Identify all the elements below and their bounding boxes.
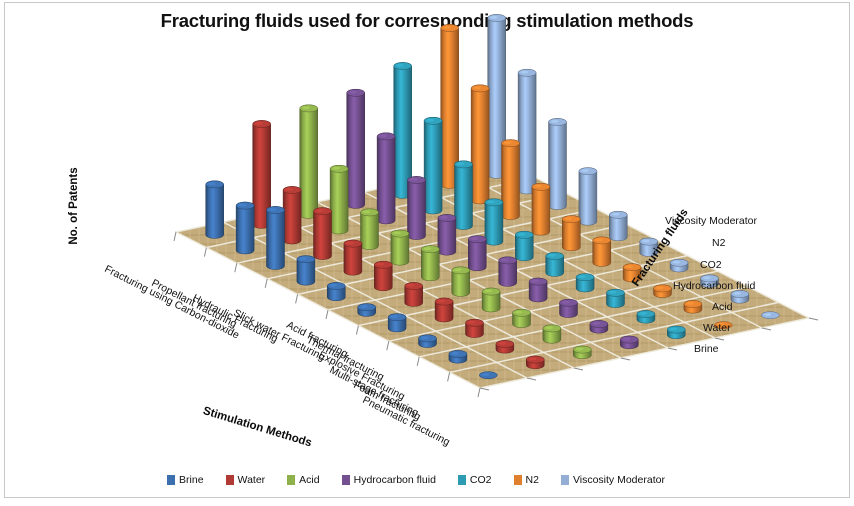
chart-bar [405, 282, 423, 306]
chart-bar [421, 246, 439, 281]
legend-label: Water [238, 474, 266, 486]
chart-bar [526, 356, 544, 369]
legend-swatch-icon [514, 475, 522, 485]
chart-bar [609, 211, 627, 241]
z-axis-tick-label: Acid [712, 301, 732, 313]
chart-bar [283, 186, 301, 244]
chart-bar [485, 199, 503, 245]
chart-bar [573, 346, 591, 359]
z-axis-tick-label: Viscosity Moderator [665, 215, 757, 227]
chart-bar [532, 183, 550, 235]
chart-bar [546, 252, 564, 276]
chart-bar [482, 288, 500, 312]
chart-bar [424, 117, 442, 214]
chart-bar [576, 274, 594, 292]
chart-bar [466, 319, 484, 337]
chart-bar [361, 209, 379, 250]
legend-swatch-icon [167, 475, 175, 485]
chart-bar [543, 325, 561, 343]
chart-bar [314, 208, 332, 260]
chart-bar [496, 340, 514, 353]
chart-bar [449, 350, 467, 363]
legend-label: N2 [526, 474, 539, 486]
chart-bar [347, 89, 365, 208]
chart-bar [358, 304, 376, 317]
legend-swatch-icon [458, 475, 466, 485]
chart-bar [562, 216, 580, 251]
chart-bar [593, 237, 611, 267]
chart-bar [515, 231, 533, 261]
legend-item[interactable]: CO2 [458, 474, 492, 486]
legend-item[interactable]: Hydrocarbon fluid [342, 474, 436, 486]
z-axis-tick-label: N2 [712, 237, 725, 249]
chart-bar [330, 165, 348, 234]
chart-bar [654, 285, 672, 298]
chart-bar [620, 336, 638, 349]
chart-bar [452, 267, 470, 297]
legend-item[interactable]: Viscosity Moderator [561, 474, 665, 486]
chart-bar [344, 240, 362, 275]
chart-bar [377, 133, 395, 224]
chart-bar [391, 230, 409, 265]
chart-bar [438, 214, 456, 255]
legend-label: Viscosity Moderator [573, 474, 665, 486]
chart-bar [236, 202, 254, 254]
chart-bar [408, 176, 426, 239]
legend-item[interactable]: N2 [514, 474, 539, 486]
chart-bar [471, 85, 489, 204]
chart-legend: BrineWaterAcidHydrocarbon fluidCO2N2Visc… [0, 474, 854, 486]
legend-label: CO2 [470, 474, 492, 486]
legend-label: Brine [179, 474, 204, 486]
chart-bar [667, 326, 685, 339]
z-axis-tick-label: Brine [694, 343, 719, 355]
z-axis-tick-label: Water [703, 322, 731, 334]
chart-bar [590, 320, 608, 333]
legend-swatch-icon [561, 475, 569, 485]
chart-bar [529, 278, 547, 302]
chart-bar [479, 372, 497, 379]
legend-swatch-icon [226, 475, 234, 485]
chart-bar [684, 300, 702, 313]
legend-item[interactable]: Acid [287, 474, 319, 486]
chart-bar [297, 256, 315, 286]
chart-bar [419, 335, 437, 348]
chart-bar [549, 118, 567, 209]
legend-swatch-icon [342, 475, 350, 485]
legend-item[interactable]: Brine [167, 474, 204, 486]
legend-label: Acid [299, 474, 319, 486]
chart-bar [670, 259, 688, 272]
chart-bar [374, 261, 392, 291]
z-axis-tick-label: CO2 [700, 259, 722, 271]
chart-bar [761, 312, 779, 319]
chart-bar [579, 168, 597, 226]
chart-bar [513, 309, 531, 327]
chart-bar [731, 290, 749, 303]
chart-bar [267, 206, 285, 269]
chart-bar [518, 69, 536, 194]
chart-bar [455, 161, 473, 230]
chart-bar [300, 105, 318, 219]
chart-bar [327, 282, 345, 300]
chart-bar [206, 181, 224, 239]
chart-bar [468, 236, 486, 271]
y-axis-title: No. of Patents [68, 126, 80, 286]
chart-bar [637, 310, 655, 323]
chart-bar [560, 299, 578, 317]
chart-bar [607, 289, 625, 307]
chart-bar [435, 298, 453, 322]
chart-bar [499, 257, 517, 287]
legend-swatch-icon [287, 475, 295, 485]
legend-label: Hydrocarbon fluid [354, 474, 436, 486]
chart-bar [388, 314, 406, 332]
z-axis-tick-label: Hydrocarbon fluid [673, 280, 755, 292]
chart-bar [502, 140, 520, 220]
legend-item[interactable]: Water [226, 474, 266, 486]
